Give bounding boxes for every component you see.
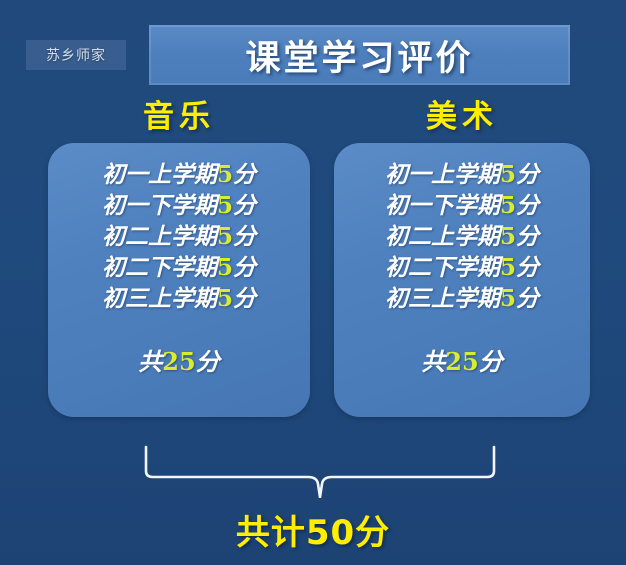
row-unit: 分 [516,223,539,250]
grand-total: 共计50分 [0,505,626,554]
column-header-label: 美术 [426,91,498,136]
row-term: 初一下学期 [385,192,500,219]
row-unit: 分 [233,192,256,219]
row-score: 5 [217,285,233,312]
row-unit: 分 [233,223,256,250]
list-item: 初二下学期5分 [334,252,590,283]
list-item: 初一上学期5分 [334,159,590,190]
list-item: 初三上学期5分 [48,283,310,314]
row-score: 5 [500,254,516,281]
row-unit: 分 [516,192,539,219]
watermark-label: 苏乡师家 [46,45,106,65]
page-title: 课堂学习评价 [245,30,473,81]
row-score: 5 [217,254,233,281]
row-score: 5 [217,223,233,250]
list-item: 初一上学期5分 [48,159,310,190]
row-term: 初二下学期 [385,254,500,281]
watermark-badge: 苏乡师家 [26,40,126,70]
row-unit: 分 [516,285,539,312]
row-score: 5 [500,285,516,312]
row-unit: 分 [233,285,256,312]
title-banner: 课堂学习评价 [149,25,570,85]
row-score: 5 [217,192,233,219]
column-header-fine-art: 美术 [334,93,590,133]
row-score: 5 [500,223,516,250]
card-total-suffix: 分 [479,347,503,376]
row-score: 5 [500,161,516,188]
row-term: 初二下学期 [102,254,217,281]
card-total-prefix: 共 [138,347,162,376]
row-term: 初一上学期 [385,161,500,188]
row-unit: 分 [516,161,539,188]
row-unit: 分 [233,161,256,188]
row-term: 初一下学期 [102,192,217,219]
card-total-prefix: 共 [421,347,445,376]
column-header-music: 音乐 [48,93,310,133]
column-header-label: 音乐 [143,91,215,136]
row-term: 初二上学期 [385,223,500,250]
score-row-list: 初一上学期5分 初一下学期5分 初二上学期5分 初二下学期5分 初三上学期5分 [48,159,310,314]
row-term: 初二上学期 [102,223,217,250]
row-score: 5 [500,192,516,219]
card-total-suffix: 分 [196,347,220,376]
grand-total-label: 共计50分 [236,513,390,553]
score-card-music: 初一上学期5分 初一下学期5分 初二上学期5分 初二下学期5分 初三上学期5分 … [48,143,310,417]
list-item: 初二下学期5分 [48,252,310,283]
list-item: 初一下学期5分 [48,190,310,221]
list-item: 初三上学期5分 [334,283,590,314]
list-item: 初一下学期5分 [334,190,590,221]
score-card-fine-art: 初一上学期5分 初一下学期5分 初二上学期5分 初二下学期5分 初三上学期5分 … [334,143,590,417]
card-total-value: 25 [162,347,195,376]
brace-connector [140,443,500,498]
list-item: 初二上学期5分 [334,221,590,252]
row-unit: 分 [516,254,539,281]
row-term: 初一上学期 [102,161,217,188]
row-term: 初三上学期 [385,285,500,312]
card-total-music: 共25分 [48,342,310,377]
slide-canvas: 苏乡师家 课堂学习评价 音乐 美术 初一上学期5分 初一下学期5分 初二上学期5… [0,0,626,565]
list-item: 初二上学期5分 [48,221,310,252]
card-total-value: 25 [445,347,478,376]
brace-icon [140,443,500,498]
row-term: 初三上学期 [102,285,217,312]
card-total-fine-art: 共25分 [334,342,590,377]
score-row-list: 初一上学期5分 初一下学期5分 初二上学期5分 初二下学期5分 初三上学期5分 [334,159,590,314]
row-score: 5 [217,161,233,188]
row-unit: 分 [233,254,256,281]
